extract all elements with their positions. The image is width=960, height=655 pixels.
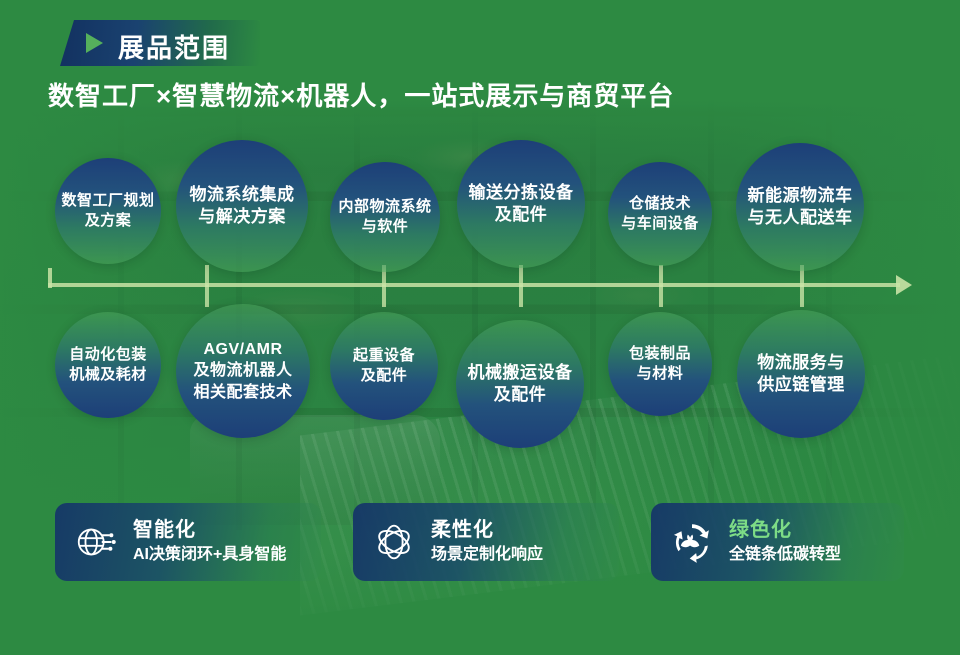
timeline-tick: [382, 285, 386, 307]
feature-card-flexible[interactable]: 柔性化 场景定制化响应: [353, 503, 619, 581]
bubble-line: 及配件: [347, 366, 421, 386]
globe-circuit-icon: [73, 519, 119, 565]
timeline-axis: [48, 283, 900, 287]
feature-desc: 场景定制化响应: [431, 544, 543, 566]
feature-card-intelligent[interactable]: 智能化 AI决策闭环+具身智能: [55, 503, 321, 581]
bubble-top-6[interactable]: 新能源物流车 与无人配送车: [736, 143, 864, 271]
atom-icon: [371, 519, 417, 565]
timeline-tick: [519, 285, 523, 307]
bubble-line: 数智工厂规划: [55, 191, 160, 211]
timeline-tick: [205, 285, 209, 307]
bubble-line: 相关配套技术: [187, 382, 298, 403]
bubble-line: 内部物流系统: [332, 197, 437, 217]
page-title: 展品范围: [118, 28, 230, 65]
feature-title: 绿色化: [729, 518, 841, 542]
bubble-line: 机械搬运设备: [462, 362, 579, 384]
bubble-line: 起重设备: [347, 346, 421, 366]
bubble-bottom-5[interactable]: 包装制品 与材料: [608, 312, 712, 416]
feature-card-text: 绿色化 全链条低碳转型: [729, 518, 841, 566]
bubble-top-2[interactable]: 物流系统集成 与解决方案: [176, 140, 308, 272]
timeline-tick: [205, 265, 209, 287]
bubble-line: 新能源物流车: [742, 185, 859, 207]
feature-card-green[interactable]: 绿色化 全链条低碳转型: [651, 503, 904, 581]
bubble-line: AGV/AMR: [187, 339, 298, 360]
timeline-start-cap: [48, 268, 52, 288]
infographic-canvas: 展品范围 数智工厂×智慧物流×机器人，一站式展示与商贸平台 数智工厂规划 及方案…: [0, 0, 960, 655]
timeline-tick: [659, 285, 663, 307]
timeline-tick: [519, 265, 523, 287]
bubble-top-5[interactable]: 仓储技术 与车间设备: [608, 162, 712, 266]
feature-title: 柔性化: [431, 518, 543, 542]
bubble-line: 包装制品: [623, 344, 697, 364]
bubble-line: 及方案: [55, 211, 160, 231]
page-subtitle: 数智工厂×智慧物流×机器人，一站式展示与商贸平台: [48, 76, 674, 113]
bubble-line: 与无人配送车: [742, 207, 859, 229]
bubble-top-3[interactable]: 内部物流系统 与软件: [330, 162, 440, 272]
timeline-tick: [659, 265, 663, 287]
bubble-line: 及配件: [462, 384, 579, 406]
feature-card-text: 柔性化 场景定制化响应: [431, 518, 543, 566]
bubble-bottom-3[interactable]: 起重设备 及配件: [330, 312, 438, 420]
right-arrow-icon: [896, 275, 912, 295]
bubble-line: 及配件: [463, 204, 580, 226]
feature-desc: 全链条低碳转型: [729, 544, 841, 566]
bubble-bottom-6[interactable]: 物流服务与 供应链管理: [737, 310, 865, 438]
bubble-line: 输送分拣设备: [463, 182, 580, 204]
bubble-line: 及物流机器人: [187, 360, 298, 381]
timeline-tick: [800, 285, 804, 307]
bubble-line: 物流系统集成: [184, 184, 301, 206]
bubble-top-1[interactable]: 数智工厂规划 及方案: [55, 158, 161, 264]
play-triangle-icon: [86, 33, 103, 53]
bubble-line: 供应链管理: [751, 374, 851, 396]
bubble-line: 与材料: [623, 364, 697, 384]
feature-title: 智能化: [133, 518, 286, 542]
feature-card-text: 智能化 AI决策闭环+具身智能: [133, 518, 286, 566]
recycle-leaf-icon: [669, 519, 715, 565]
bubble-line: 物流服务与: [751, 352, 851, 374]
bubble-top-4[interactable]: 输送分拣设备 及配件: [457, 140, 585, 268]
bubble-line: 与车间设备: [615, 214, 705, 234]
bubble-line: 仓储技术: [615, 194, 705, 214]
feature-desc: AI决策闭环+具身智能: [133, 544, 286, 566]
bubble-line: 机械及耗材: [63, 365, 153, 385]
bubble-bottom-1[interactable]: 自动化包装 机械及耗材: [55, 312, 161, 418]
bubble-bottom-2[interactable]: AGV/AMR 及物流机器人 相关配套技术: [176, 304, 310, 438]
bubble-line: 自动化包装: [63, 345, 153, 365]
bubble-line: 与解决方案: [184, 206, 301, 228]
bubble-line: 与软件: [332, 217, 437, 237]
bubble-bottom-4[interactable]: 机械搬运设备 及配件: [456, 320, 584, 448]
